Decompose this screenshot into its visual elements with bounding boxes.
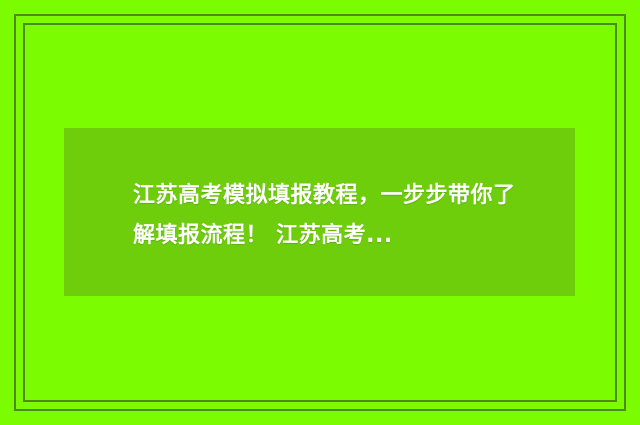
poster-canvas: 江苏高考模拟填报教程，一步步带你了解填报流程！ 江苏高考... — [0, 0, 640, 425]
caption-text: 江苏高考模拟填报教程，一步步带你了解填报流程！ 江苏高考... — [133, 176, 533, 256]
